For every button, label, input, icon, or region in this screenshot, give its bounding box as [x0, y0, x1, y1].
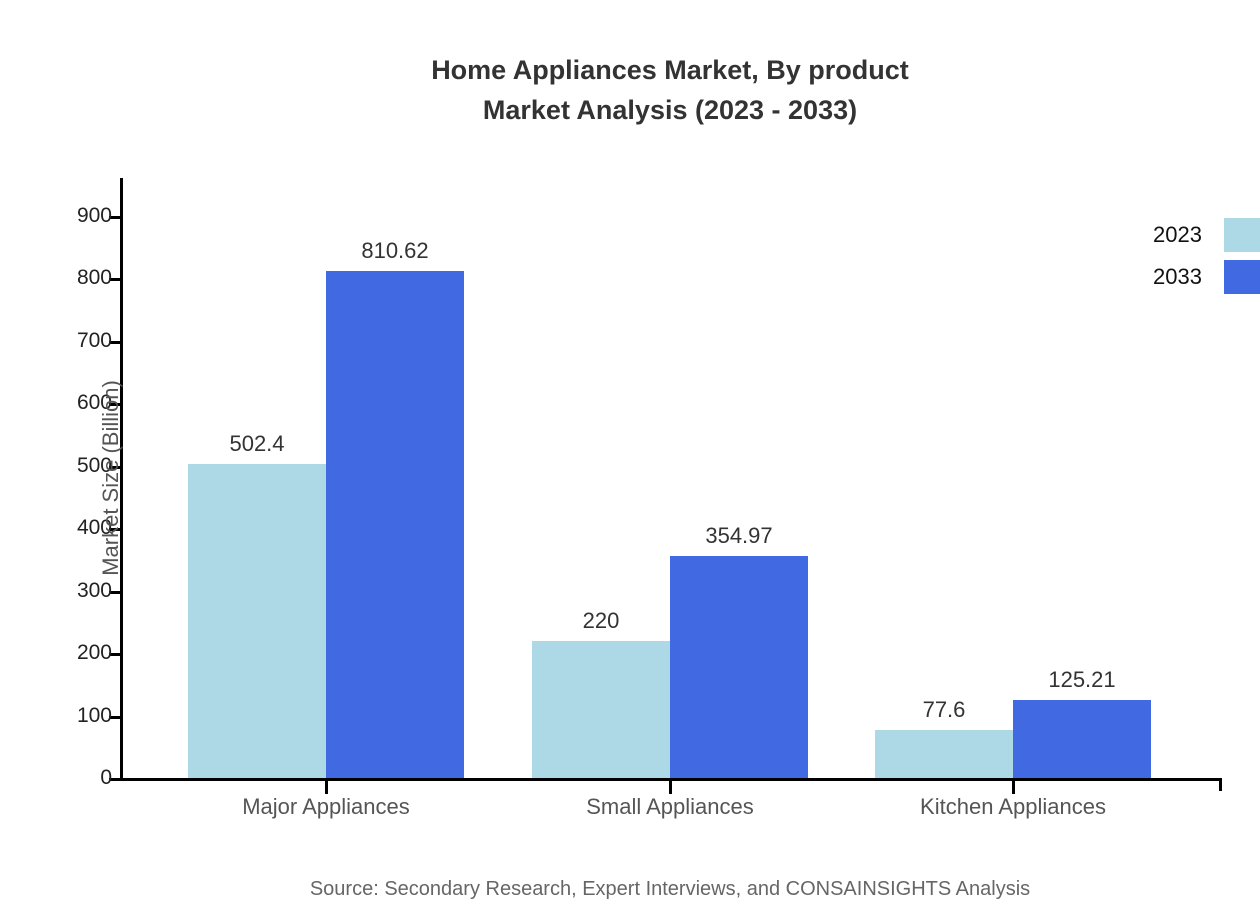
x-axis-tick-mark: [325, 781, 328, 794]
bar-value-label: 77.6: [923, 697, 966, 723]
bar-value-label: 810.62: [361, 238, 428, 264]
y-axis-tick-label: 200: [77, 641, 112, 665]
bar-value-label: 354.97: [705, 523, 772, 549]
x-axis-tick-label: Kitchen Appliances: [920, 794, 1106, 820]
bar-value-label: 502.4: [229, 431, 284, 457]
source-note: Source: Secondary Research, Expert Inter…: [0, 878, 1260, 901]
x-axis-tick-label: Major Appliances: [242, 794, 410, 820]
bar-value-label: 125.21: [1048, 667, 1115, 693]
x-axis-tick-mark: [669, 781, 672, 794]
x-axis-tick-mark: [1012, 781, 1015, 794]
bar-2033-major-appliances[interactable]: [326, 271, 464, 778]
chart-title-block: Home Appliances Market, By product Marke…: [0, 50, 1260, 130]
y-axis-tick-label: 900: [77, 204, 112, 228]
legend-item-2033[interactable]: 2033: [1130, 260, 1260, 302]
legend-label-2023: 2023: [1153, 222, 1202, 248]
legend-label-2033: 2033: [1153, 264, 1202, 290]
y-axis-tick-label: 0: [100, 766, 112, 790]
bar-value-label: 220: [583, 608, 620, 634]
plot-area: 0100200300400500600700800900 Major Appli…: [120, 178, 1222, 781]
bar-2033-kitchen-appliances[interactable]: [1013, 700, 1151, 778]
x-axis-tick-label: Small Appliances: [586, 794, 754, 820]
y-axis-tick-label: 700: [77, 329, 112, 353]
bar-2023-major-appliances[interactable]: [188, 464, 326, 778]
chart-canvas: Home Appliances Market, By product Marke…: [0, 0, 1260, 920]
bar-2023-small-appliances[interactable]: [532, 641, 670, 779]
bar-2023-kitchen-appliances[interactable]: [875, 730, 1013, 779]
y-axis-tick-label: 300: [77, 579, 112, 603]
legend-swatch-2023: [1224, 218, 1260, 252]
y-axis-tick-label: 800: [77, 266, 112, 290]
y-axis-tick-label: 100: [77, 704, 112, 728]
bar-2033-small-appliances[interactable]: [670, 556, 808, 778]
chart-legend: 2023 2033: [1130, 218, 1260, 302]
x-axis-endcap: [1219, 778, 1222, 791]
legend-item-2023[interactable]: 2023: [1130, 218, 1260, 260]
chart-title-line-1: Home Appliances Market, By product: [0, 50, 1260, 90]
y-axis-title: Market Size (Billion): [98, 380, 124, 576]
legend-swatch-2033: [1224, 260, 1260, 294]
chart-title-line-2: Market Analysis (2023 - 2033): [0, 90, 1260, 130]
